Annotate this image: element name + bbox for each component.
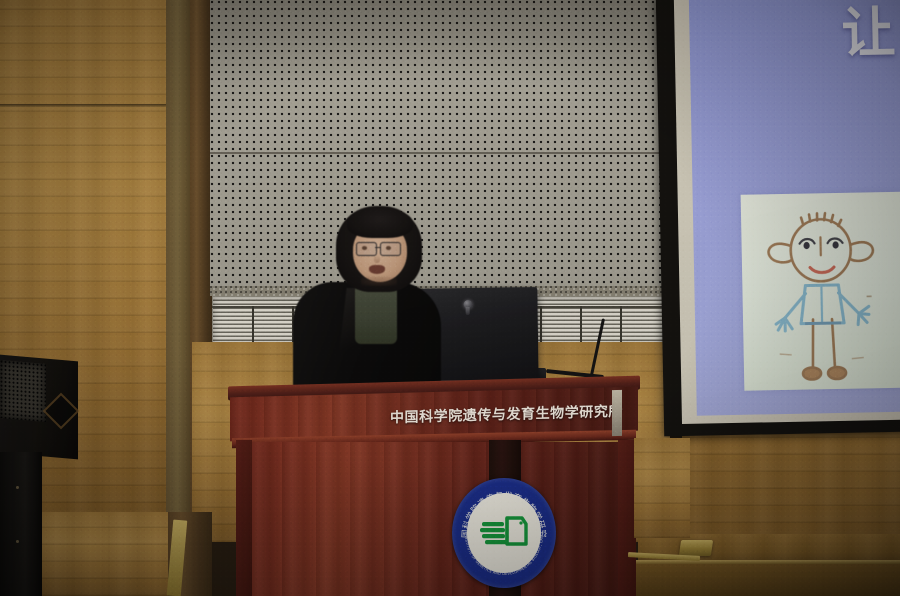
pa-speaker-grille [0, 360, 46, 422]
stage-front-face [636, 564, 900, 596]
glasses-bridge [375, 247, 381, 248]
projection-screen-frame: 让 [656, 0, 900, 436]
pa-bracket-screw-upper [16, 486, 19, 489]
projection-screen-surface: 让 [689, 0, 900, 416]
panel-joint-line [210, 152, 670, 154]
laptop-brand-logo-tail [466, 307, 470, 315]
eye-right [386, 246, 391, 250]
pa-bracket-screw-lower [16, 540, 19, 543]
floor-left-strip [42, 512, 170, 596]
crayon-drawing-svg [741, 192, 900, 391]
oak-strip-right-of-podium [634, 438, 690, 538]
institute-emblem: 中国科学院遗传与发育生物学研究所 INSTITUTE OF GENETICS A… [452, 478, 556, 588]
vent-mullion-8 [620, 306, 622, 344]
vent-mullion-7 [580, 306, 582, 344]
presenter-fringe [347, 208, 413, 238]
podium-body [248, 442, 624, 596]
brass-floor-fixture [679, 540, 713, 556]
vent-mullion-1 [252, 306, 254, 344]
slide-title-text: 让 [841, 0, 900, 68]
slide-drawing-image [741, 192, 900, 391]
presenter-figure [295, 200, 445, 400]
podium-edge-highlight [612, 390, 622, 436]
eye-left [362, 246, 367, 250]
vent-mullion-6 [540, 306, 542, 344]
lecture-hall-photograph: 让 [0, 0, 900, 596]
wall-column-mid [166, 0, 192, 540]
podium-left-chamfer [236, 440, 252, 596]
mouth [369, 265, 385, 274]
pa-speaker-mount-bracket [0, 452, 42, 596]
nose [374, 255, 380, 263]
wall-seam-left [0, 104, 170, 107]
emblem-artwork: 中国科学院遗传与发育生物学研究所 INSTITUTE OF GENETICS A… [452, 478, 556, 588]
chin-shadow [361, 276, 397, 286]
